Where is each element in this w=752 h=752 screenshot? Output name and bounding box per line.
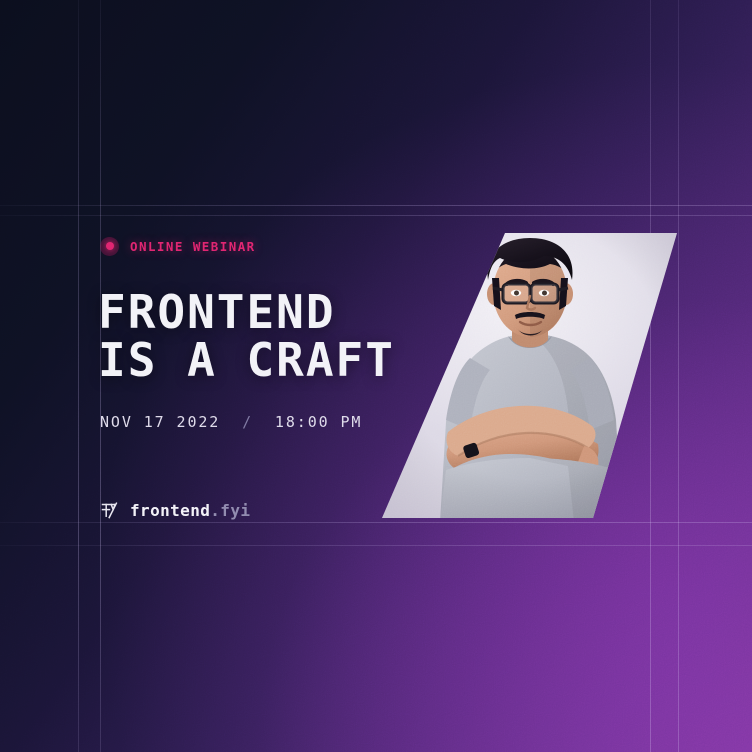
- gridline-horizontal: [0, 205, 752, 206]
- event-date: NOV 17 2022: [100, 413, 220, 431]
- event-time: 18:00 PM: [275, 413, 362, 431]
- gridline-vertical: [78, 0, 79, 752]
- gridline-vertical: [678, 0, 679, 752]
- brand-name: frontend: [130, 501, 210, 520]
- brand-tld: .fyi: [210, 501, 250, 520]
- status-badge: ONLINE WEBINAR: [100, 236, 256, 256]
- frontend-fyi-monogram-icon: [100, 501, 119, 520]
- event-datetime: NOV 17 2022 / 18:00 PM: [100, 413, 362, 431]
- gridline-horizontal: [0, 545, 752, 546]
- banner-content: ONLINE WEBINAR FRONTENDIS A CRAFT NOV 17…: [100, 233, 678, 523]
- headline-line-1: FRONTEND: [98, 285, 336, 339]
- brand-logo-text: frontend.fyi: [130, 501, 250, 520]
- headline-line-2: IS A CRAFT: [98, 336, 395, 384]
- page-title: FRONTENDIS A CRAFT: [98, 288, 395, 384]
- banner-canvas: ONLINE WEBINAR FRONTENDIS A CRAFT NOV 17…: [0, 0, 752, 752]
- status-badge-label: ONLINE WEBINAR: [130, 239, 256, 254]
- record-dot-icon: [100, 237, 119, 256]
- datetime-separator: /: [220, 413, 275, 431]
- gridline-horizontal: [0, 215, 752, 216]
- brand-logo[interactable]: frontend.fyi: [100, 501, 250, 520]
